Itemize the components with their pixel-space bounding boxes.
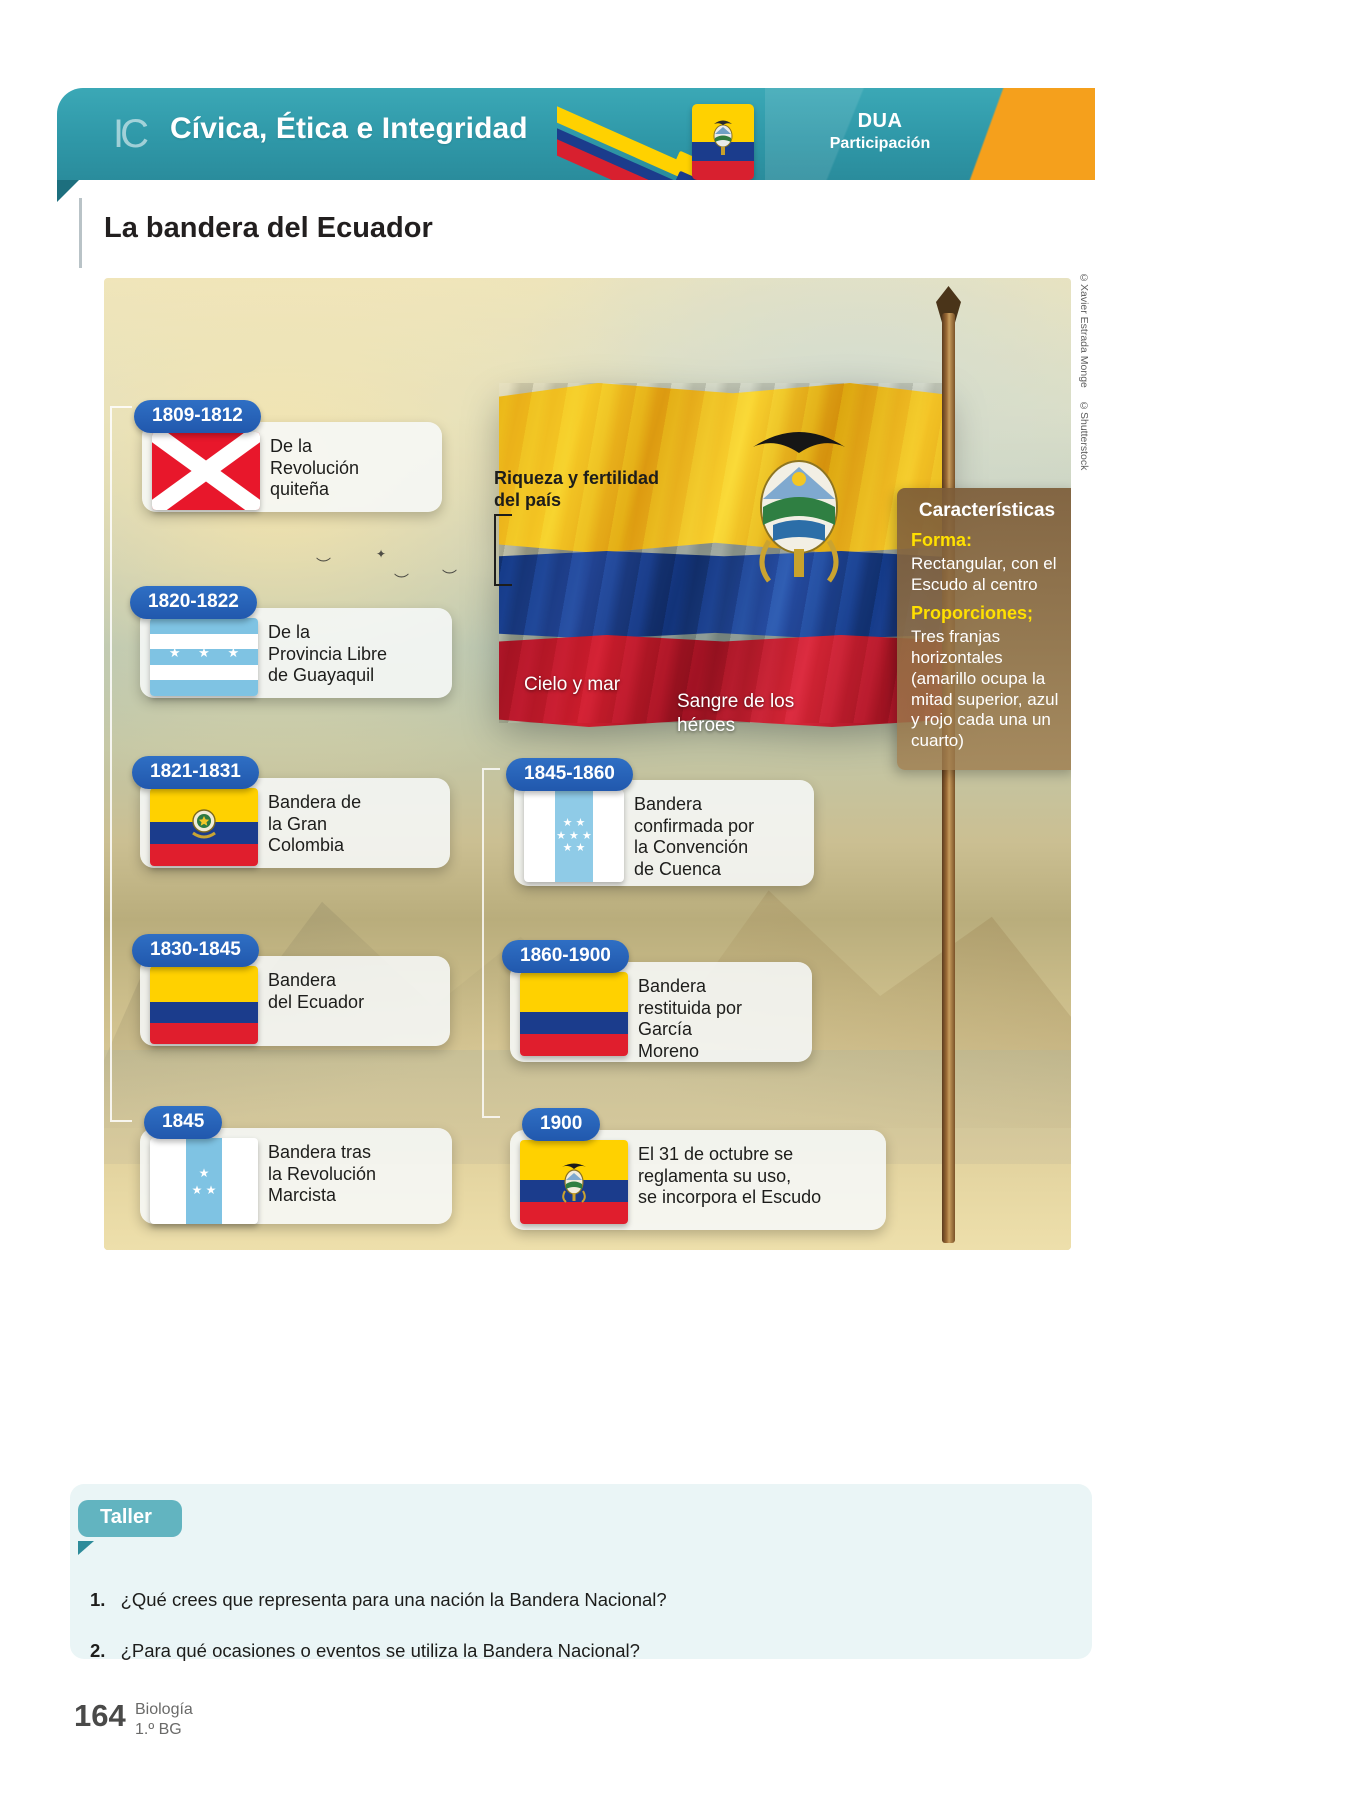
flag-guayaquil-icon: ★★★	[150, 618, 258, 696]
label-sangre-heroes: Sangre de loshéroes	[677, 690, 794, 738]
dua-title: DUA	[795, 110, 965, 133]
flag-tricolor-escudo-icon	[520, 1140, 628, 1224]
year-badge-1900[interactable]: 1900	[522, 1108, 600, 1141]
card-description: De laProvincia Librede Guayaquil	[268, 618, 387, 687]
flag-pole	[942, 313, 955, 1243]
bird-icon: ︶	[316, 558, 331, 573]
caracteristicas-panel: Características Forma: Rectangular, con …	[897, 488, 1071, 770]
card-description: Banderarestituida porGarcíaMoreno	[638, 972, 742, 1062]
year-badge-1860-1900[interactable]: 1860-1900	[502, 940, 629, 973]
question-number: 1.	[90, 1589, 105, 1610]
bird-icon: ︶	[394, 574, 409, 589]
year-badge-1845[interactable]: 1845	[144, 1106, 222, 1139]
year-badge-1821-1831[interactable]: 1821-1831	[132, 756, 259, 789]
label-riqueza: Riqueza y fertilidaddel país	[494, 468, 659, 512]
infographic-canvas: ︶ ︶ ︶ ✦ Riqueza y fertilidaddel país Cie…	[104, 278, 1071, 1250]
timeline-card-1821-1831[interactable]: Bandera dela GranColombia	[140, 778, 450, 868]
caracteristicas-title: Características	[911, 500, 1063, 522]
dua-subtitle: Participación	[795, 135, 965, 153]
title-rule	[79, 198, 82, 268]
taller-question-1: 1. ¿Qué crees que representa para una na…	[90, 1589, 667, 1611]
header-fold-tail	[57, 180, 79, 202]
photo-credit-photographer: ©Xavier Estrada Monge	[1078, 272, 1090, 388]
stars-group: ★ ★★ ★ ★★ ★	[524, 790, 624, 882]
timeline-card-1809-1812[interactable]: De laRevoluciónquiteña	[142, 422, 442, 512]
footer-subject: Biología	[135, 1700, 193, 1720]
flag-marcista-icon: ★★ ★	[150, 1138, 258, 1224]
taller-tab-tail	[78, 1541, 94, 1555]
timeline-card-1860-1900[interactable]: Banderarestituida porGarcíaMoreno	[510, 962, 812, 1062]
timeline-card-1830-1845[interactable]: Banderadel Ecuador	[140, 956, 450, 1046]
year-badge-1820-1822[interactable]: 1820-1822	[130, 586, 257, 619]
card-description: Bandera dela GranColombia	[268, 788, 361, 857]
timeline-card-1845-1860[interactable]: ★ ★★ ★ ★★ ★ Banderaconfirmada porla Conv…	[514, 780, 814, 886]
bird-icon: ✦	[376, 548, 386, 560]
header-title: Cívica, Ética e Integridad	[170, 112, 528, 146]
label-bracket	[494, 514, 512, 586]
forma-value: Rectangular, con el Escudo al centro	[911, 554, 1063, 595]
flag-tricolor-icon	[150, 966, 258, 1044]
proporciones-value: Tres franjas horizontales (amarillo ocup…	[911, 627, 1063, 751]
timeline-card-1820-1822[interactable]: ★★★ De laProvincia Librede Guayaquil	[140, 608, 452, 698]
timeline-connector-left	[110, 406, 132, 1122]
forma-label: Forma:	[911, 530, 1063, 551]
flag-tricolor-icon	[520, 972, 628, 1056]
ic-logo: IC	[113, 112, 145, 157]
flag-gran-colombia-icon	[150, 788, 258, 866]
card-description: De laRevoluciónquiteña	[270, 432, 359, 501]
page-header: IC Cívica, Ética e Integridad DUA Partic…	[57, 88, 1095, 180]
photo-credit-stock: ©Shutterstock	[1078, 400, 1090, 470]
card-description: Banderaconfirmada porla Convenciónde Cue…	[634, 790, 754, 880]
question-text: ¿Para qué ocasiones o eventos se utiliza…	[121, 1640, 640, 1661]
escudo-nacional-icon	[739, 421, 859, 591]
bird-icon: ︶	[442, 570, 457, 585]
flag-cruz-borgona-icon	[152, 432, 260, 510]
escudo-icon	[559, 1160, 589, 1204]
question-number: 2.	[90, 1640, 105, 1661]
year-badge-1830-1845[interactable]: 1830-1845	[132, 934, 259, 967]
main-ecuador-flag	[499, 383, 949, 723]
taller-tab-label: Taller	[78, 1500, 182, 1537]
flag-cuenca-icon: ★ ★★ ★ ★★ ★	[524, 790, 624, 882]
timeline-card-1900[interactable]: El 31 de octubre sereglamenta su uso,se …	[510, 1130, 886, 1230]
header-band: IC Cívica, Ética e Integridad DUA Partic…	[57, 88, 1095, 180]
page-number: 164	[74, 1698, 126, 1734]
proporciones-label: Proporciones;	[911, 603, 1063, 624]
label-cielo-y-mar: Cielo y mar	[524, 674, 620, 696]
escudo-icon	[710, 118, 736, 158]
footer-level: 1.º BG	[135, 1720, 193, 1740]
card-description: Bandera trasla RevoluciónMarcista	[268, 1138, 376, 1207]
question-text: ¿Qué crees que representa para una nació…	[121, 1589, 667, 1610]
footer-meta: Biología 1.º BG	[135, 1700, 193, 1739]
page-title: La bandera del Ecuador	[104, 212, 433, 245]
card-description: Banderadel Ecuador	[268, 966, 364, 1013]
ecuador-flag-icon	[692, 104, 754, 180]
timeline-card-1845[interactable]: ★★ ★ Bandera trasla RevoluciónMarcista	[140, 1128, 452, 1224]
stars-group: ★★ ★	[150, 1138, 258, 1224]
timeline-connector-right	[482, 768, 500, 1118]
card-description: El 31 de octubre sereglamenta su uso,se …	[638, 1140, 821, 1209]
dua-block: DUA Participación	[795, 110, 965, 153]
year-badge-1845-1860[interactable]: 1845-1860	[506, 758, 633, 791]
taller-question-2: 2. ¿Para qué ocasiones o eventos se util…	[90, 1640, 640, 1662]
escudo-icon	[189, 805, 219, 849]
taller-section	[70, 1484, 1092, 1659]
year-badge-1809-1812[interactable]: 1809-1812	[134, 400, 261, 433]
